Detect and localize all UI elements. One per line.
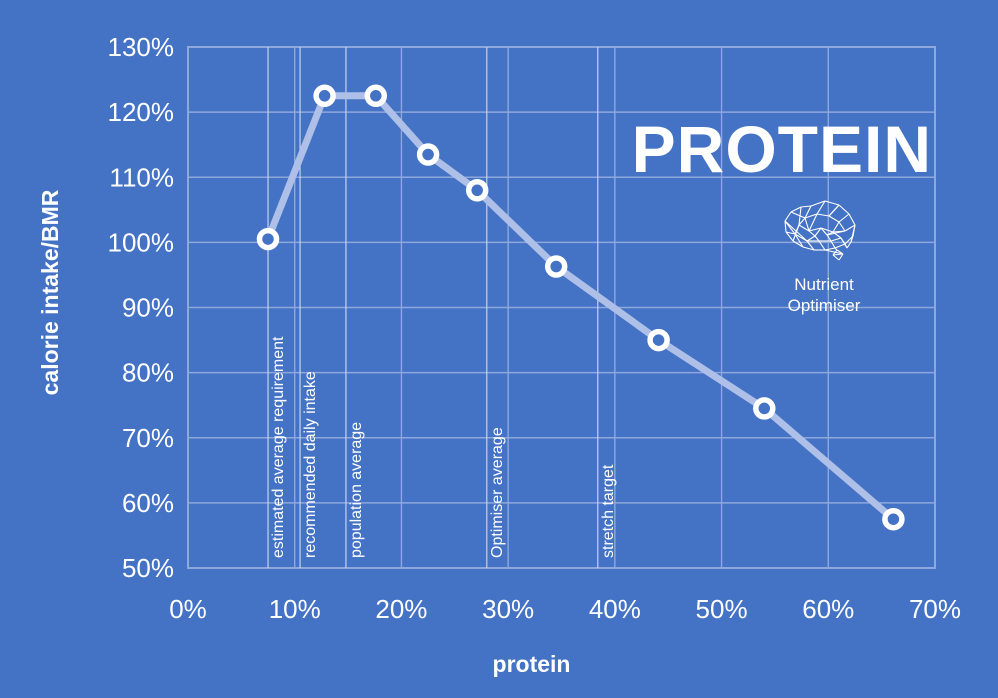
data-point-marker [260, 231, 277, 248]
data-point-marker [756, 400, 773, 417]
x-tick-label: 70% [909, 594, 961, 624]
data-point-marker [367, 87, 384, 104]
chart-container: estimated average requirementrecommended… [0, 0, 998, 698]
data-point-marker [316, 87, 333, 104]
x-tick-label: 40% [589, 594, 641, 624]
x-tick-label: 60% [802, 594, 854, 624]
data-point-marker [650, 332, 667, 349]
logo-text-line1: Nutrient [794, 275, 854, 294]
x-axis-title: protein [493, 651, 571, 677]
y-tick-label: 90% [122, 293, 174, 323]
data-point-marker [469, 182, 486, 199]
y-tick-label: 120% [108, 97, 175, 127]
annotation-label: recommended daily intake [302, 371, 319, 558]
data-point-marker [548, 258, 565, 275]
y-tick-label: 130% [108, 32, 175, 62]
x-tick-label: 10% [269, 594, 321, 624]
y-tick-label: 50% [122, 553, 174, 583]
protein-calorie-line-chart: estimated average requirementrecommended… [0, 0, 998, 698]
x-tick-label: 30% [482, 594, 534, 624]
y-tick-label: 80% [122, 358, 174, 388]
data-point-marker [420, 146, 437, 163]
annotation-label: estimated average requirement [270, 336, 287, 558]
y-tick-label: 60% [122, 488, 174, 518]
logo-text-line2: Optimiser [788, 296, 861, 315]
x-tick-label: 20% [375, 594, 427, 624]
annotation-label: population average [348, 422, 365, 558]
y-axis-title: calorie intake/BMR [37, 189, 63, 395]
data-point-marker [885, 511, 902, 528]
y-tick-label: 70% [122, 423, 174, 453]
y-tick-label: 110% [109, 162, 174, 192]
annotation-label: stretch target [600, 464, 617, 558]
annotation-label: Optimiser average [489, 427, 506, 558]
page-title: PROTEIN [632, 112, 932, 186]
x-tick-label: 0% [169, 594, 207, 624]
x-tick-label: 50% [696, 594, 748, 624]
y-tick-label: 100% [108, 227, 175, 257]
